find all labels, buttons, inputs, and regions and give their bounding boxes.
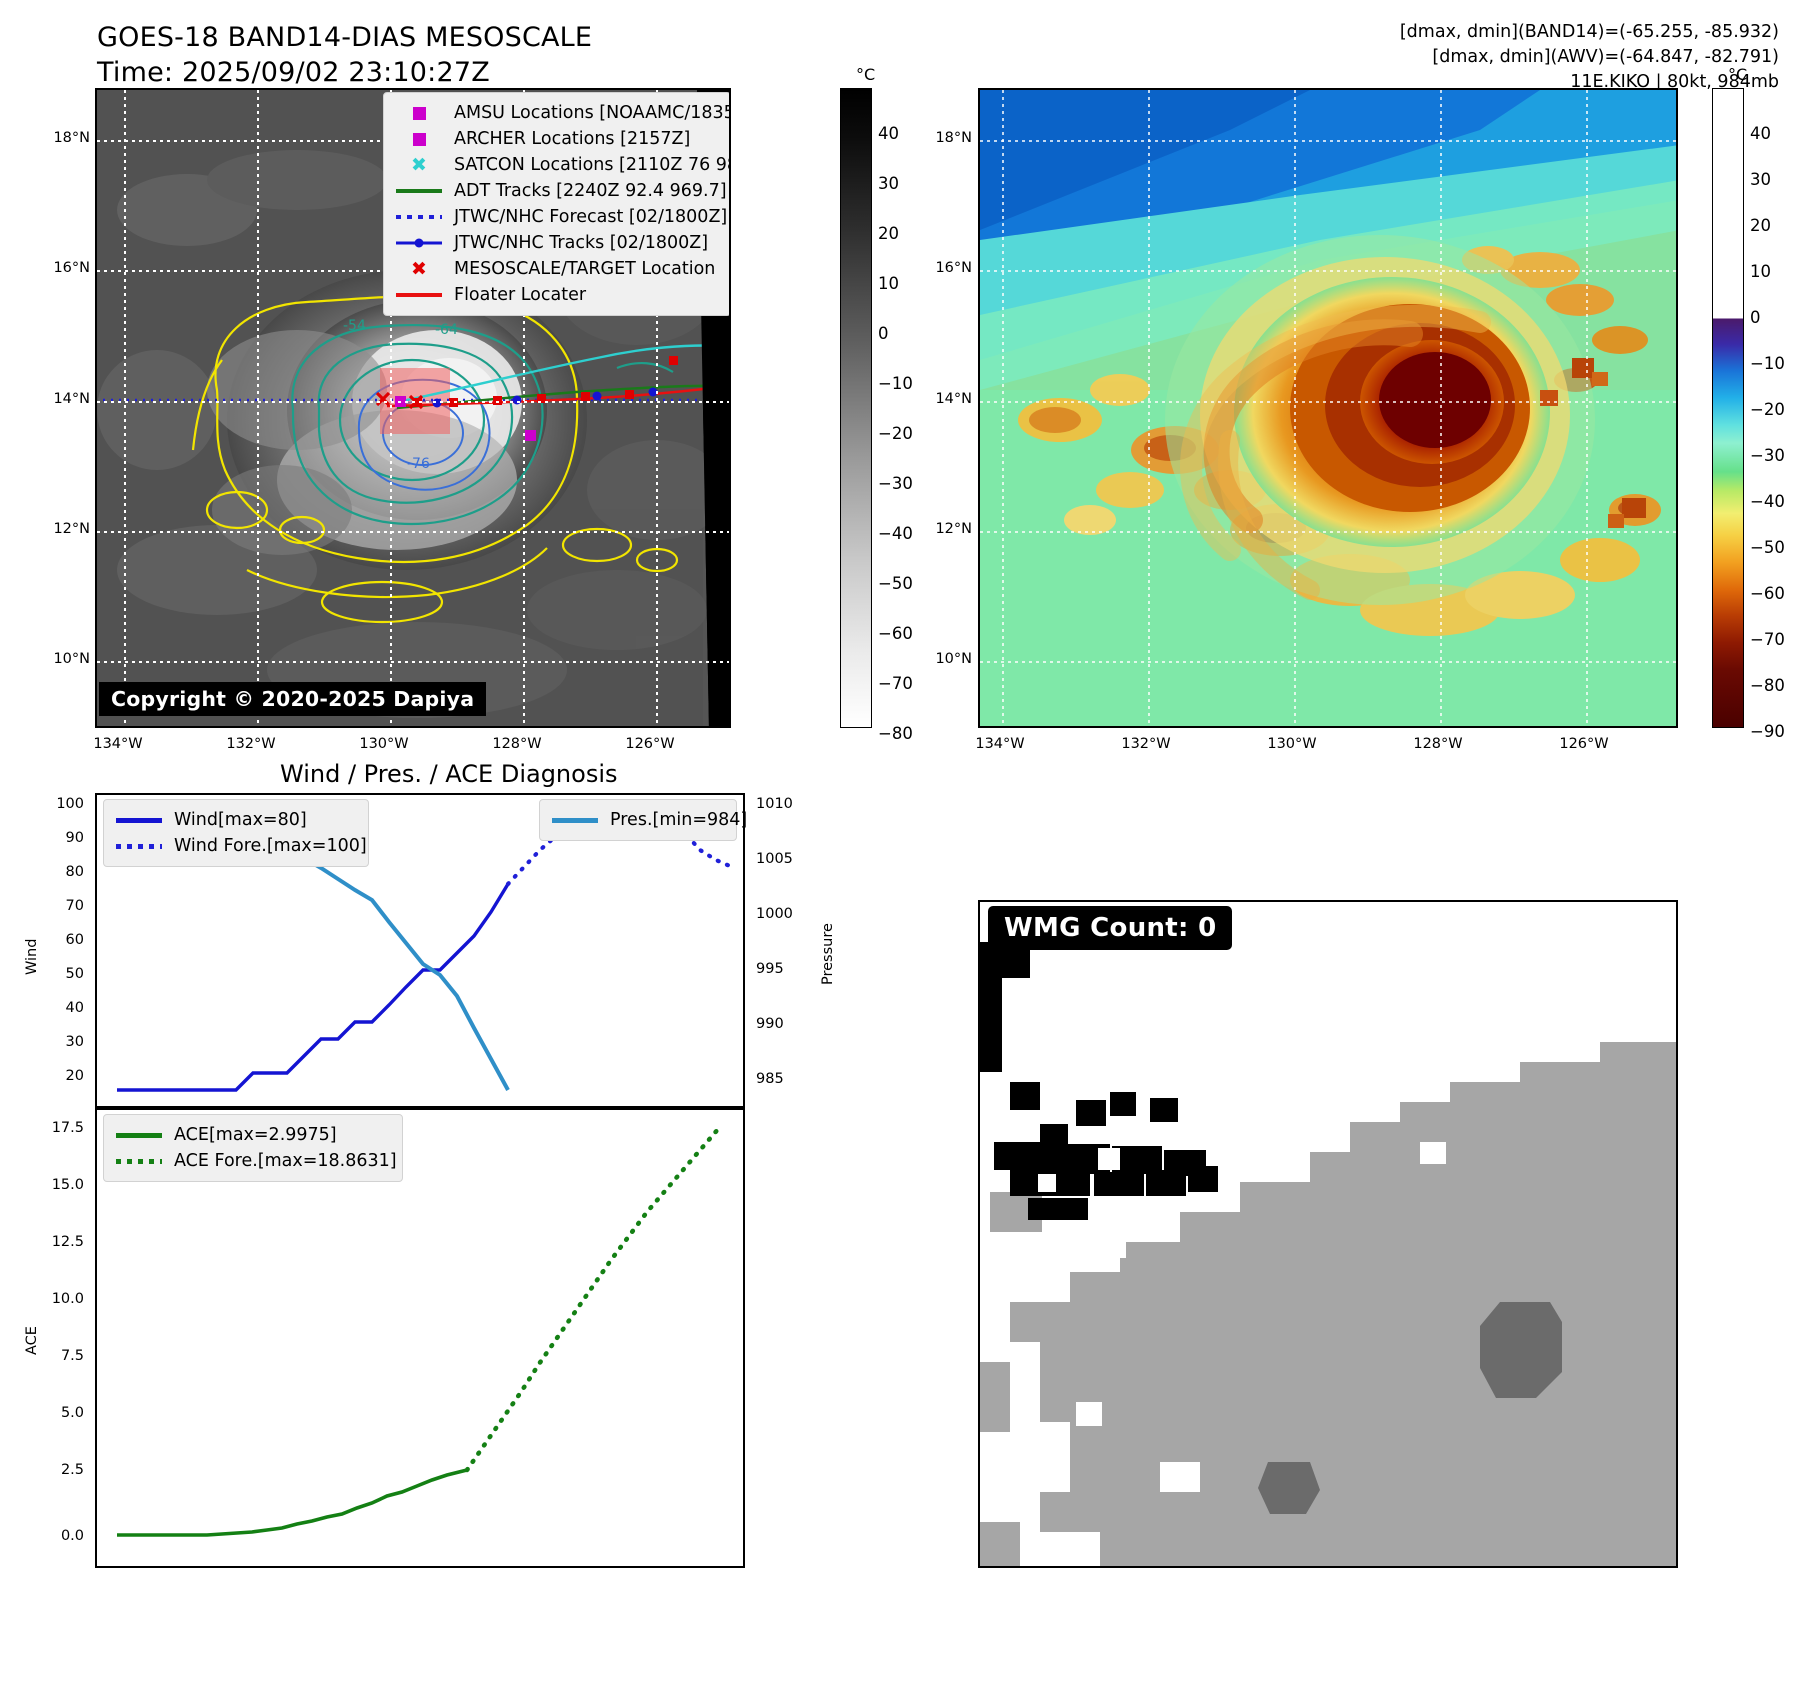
right-map-canvas — [980, 90, 1678, 728]
wind-tick: 50 — [66, 966, 84, 982]
left-colorbar-unit: °C — [856, 65, 875, 84]
cb-tick: −60 — [1750, 584, 1785, 603]
legend-label: ACE Fore.[max=18.8631] — [174, 1151, 397, 1171]
cb-tick: −30 — [878, 474, 913, 493]
legend-item[interactable]: ✖ SATCON Locations [2110Z 76 982] — [393, 152, 718, 178]
left-colorbar — [840, 88, 872, 728]
cb-tick: −70 — [1750, 630, 1785, 649]
ace-line-icon — [113, 1133, 165, 1138]
cb-tick: 0 — [1750, 308, 1761, 327]
gridline-lat — [980, 140, 1678, 142]
lat-label: 18°N — [52, 130, 90, 146]
pressure-legend: Pres.[min=984] — [539, 799, 737, 841]
wind-axis-ticks: 100 90 80 70 60 50 40 30 20 — [40, 793, 90, 1108]
ace-tick: 12.5 — [52, 1234, 84, 1250]
cb-tick: −30 — [1750, 446, 1785, 465]
floater-locater-line-icon — [393, 293, 445, 296]
legend-item[interactable]: Wind[max=80] — [113, 807, 356, 833]
gridline-lat — [980, 661, 1678, 663]
diagnosis-title: Wind / Pres. / ACE Diagnosis — [280, 760, 618, 788]
right-colorbar-ticks: 40 30 20 10 0 −10 −20 −30 −40 −50 −60 −7… — [1750, 88, 1801, 728]
gridline-lon — [1002, 90, 1004, 728]
gridline-lat — [97, 661, 731, 663]
wind-tick: 60 — [66, 932, 84, 948]
map-legend: AMSU Locations [NOAAMC/1835Z 62 990] ARC… — [383, 92, 731, 316]
cb-tick: −50 — [878, 574, 913, 593]
ace-tick: 10.0 — [52, 1291, 84, 1307]
lat-label: 12°N — [52, 521, 90, 537]
gridline-lon — [1148, 90, 1150, 728]
legend-label: Wind[max=80] — [174, 810, 307, 830]
lat-label: 16°N — [52, 260, 90, 276]
wind-pressure-chart[interactable]: Wind[max=80] Wind Fore.[max=100] Pres.[m… — [95, 793, 745, 1108]
ace-chart[interactable]: ACE[max=2.9975] ACE Fore.[max=18.8631] — [95, 1108, 745, 1568]
svg-text:-54: -54 — [343, 318, 366, 334]
cb-tick: 40 — [1750, 124, 1771, 143]
archer-square-icon — [393, 133, 445, 146]
cb-tick: 20 — [878, 224, 899, 243]
gridline-lon — [1440, 90, 1442, 728]
header-stats: [dmax, dmin](BAND14)=(-65.255, -85.932) … — [1139, 20, 1779, 95]
legend-item[interactable]: ARCHER Locations [2157Z] — [393, 126, 718, 152]
legend-label: Wind Fore.[max=100] — [174, 836, 367, 856]
time-line: Time: 2025/09/02 23:10:27Z — [97, 57, 592, 88]
lat-label: 10°N — [52, 651, 90, 667]
lat-label: 18°N — [930, 130, 972, 146]
wind-line-icon — [113, 818, 165, 823]
wind-tick: 80 — [66, 864, 84, 880]
legend-label: SATCON Locations [2110Z 76 982] — [454, 155, 731, 175]
gridline-lat — [980, 401, 1678, 403]
lon-label: 132°W — [215, 736, 287, 752]
legend-item[interactable]: AMSU Locations [NOAAMC/1835Z 62 990] — [393, 100, 718, 126]
right-colorbar — [1712, 88, 1744, 728]
lat-label: 14°N — [52, 391, 90, 407]
wind-legend: Wind[max=80] Wind Fore.[max=100] — [103, 799, 369, 867]
lon-label: 130°W — [1256, 736, 1328, 752]
legend-item[interactable]: ACE Fore.[max=18.8631] — [113, 1148, 390, 1174]
satcon-cross-icon: ✖ — [393, 156, 445, 175]
pres-tick: 995 — [756, 961, 784, 977]
ace-tick: 7.5 — [61, 1348, 84, 1364]
cb-tick: −80 — [878, 724, 913, 743]
lon-label: 134°W — [82, 736, 154, 752]
cb-tick: −20 — [878, 424, 913, 443]
cb-tick: −50 — [1750, 538, 1785, 557]
right-colorbar-unit: °C — [1728, 65, 1747, 84]
lon-label: 128°W — [481, 736, 553, 752]
copyright-badge: Copyright © 2020-2025 Dapiya — [99, 682, 486, 716]
legend-item[interactable]: ACE[max=2.9975] — [113, 1122, 390, 1148]
lon-label: 128°W — [1402, 736, 1474, 752]
jtwc-track-line-marker-icon — [393, 237, 445, 249]
pressure-line-icon — [549, 818, 601, 823]
cb-tick: −70 — [878, 674, 913, 693]
cb-tick: −80 — [1750, 676, 1785, 695]
wmg-panel[interactable]: WMG Count: 0 — [978, 900, 1678, 1568]
left-colorbar-ticks: 40 30 20 10 0 −10 −20 −30 −40 −50 −60 −7… — [878, 88, 938, 728]
ace-tick: 15.0 — [52, 1177, 84, 1193]
lon-label: 134°W — [964, 736, 1036, 752]
legend-item[interactable]: Wind Fore.[max=100] — [113, 833, 356, 859]
lon-label: 126°W — [1548, 736, 1620, 752]
wind-forecast-dotted-icon — [113, 844, 165, 849]
jtwc-forecast-dotted-icon — [393, 215, 445, 219]
pres-tick: 985 — [756, 1071, 784, 1087]
cb-tick: −40 — [878, 524, 913, 543]
lon-label: 132°W — [1110, 736, 1182, 752]
cb-tick: 0 — [878, 324, 889, 343]
wind-tick: 70 — [66, 898, 84, 914]
right-ir-enhanced-map[interactable] — [978, 88, 1678, 728]
legend-item[interactable]: JTWC/NHC Forecast [02/1800Z] — [393, 204, 718, 230]
gridline-lon — [1586, 90, 1588, 728]
pres-tick: 990 — [756, 1016, 784, 1032]
gridline-lon — [257, 90, 259, 728]
wind-tick: 20 — [66, 1068, 84, 1084]
cb-tick: 30 — [1750, 170, 1771, 189]
wind-axis-title: Wind — [24, 939, 40, 975]
legend-label: AMSU Locations [NOAAMC/1835Z 62 990] — [454, 103, 731, 123]
ace-forecast-dotted-icon — [113, 1159, 165, 1164]
cb-tick: 10 — [878, 274, 899, 293]
amsu-square-icon — [393, 107, 445, 120]
legend-label: Floater Locater — [454, 285, 586, 305]
legend-label: ARCHER Locations [2157Z] — [454, 129, 690, 149]
gridline-lon — [124, 90, 126, 728]
cb-tick: −10 — [1750, 354, 1785, 373]
wmg-count-badge: WMG Count: 0 — [988, 906, 1232, 950]
mesoscale-target-x-icon: ✖ — [393, 260, 445, 279]
lon-label: 130°W — [348, 736, 420, 752]
lat-label: 12°N — [930, 521, 972, 537]
page-title: GOES-18 BAND14-DIAS MESOSCALE Time: 2025… — [97, 22, 592, 88]
gridline-lat — [97, 531, 731, 533]
lat-label: 10°N — [930, 651, 972, 667]
pres-tick: 1010 — [756, 796, 793, 812]
lon-label: 126°W — [614, 736, 686, 752]
ace-tick: 0.0 — [61, 1528, 84, 1544]
ace-legend: ACE[max=2.9975] ACE Fore.[max=18.8631] — [103, 1114, 403, 1182]
legend-label: JTWC/NHC Tracks [02/1800Z] — [454, 233, 708, 253]
pressure-axis-title: Pressure — [820, 923, 836, 985]
cb-tick: −20 — [1750, 400, 1785, 419]
wmg-mask-canvas — [980, 902, 1676, 1566]
left-satellite-map[interactable]: -54 -64 -76 — [95, 88, 731, 728]
cb-tick: 20 — [1750, 216, 1771, 235]
cb-tick: 10 — [1750, 262, 1771, 281]
svg-text:-64: -64 — [435, 322, 458, 338]
wind-tick: 90 — [66, 830, 84, 846]
cb-tick: −10 — [878, 374, 913, 393]
lat-label: 16°N — [930, 260, 972, 276]
gridline-lat — [97, 401, 731, 403]
wind-tick: 40 — [66, 1000, 84, 1016]
legend-item[interactable]: ADT Tracks [2240Z 92.4 969.7] — [393, 178, 718, 204]
pres-tick: 1000 — [756, 906, 793, 922]
legend-item[interactable]: ✖ MESOSCALE/TARGET Location — [393, 256, 718, 282]
ace-tick: 17.5 — [52, 1120, 84, 1136]
title-line: GOES-18 BAND14-DIAS MESOSCALE — [97, 22, 592, 53]
dmax-band14-text: [dmax, dmin](BAND14)=(-65.255, -85.932) — [1139, 20, 1779, 45]
adt-line-icon — [393, 189, 445, 192]
legend-label: MESOSCALE/TARGET Location — [454, 259, 715, 279]
dmax-awv-text: [dmax, dmin](AWV)=(-64.847, -82.791) — [1139, 45, 1779, 70]
legend-item[interactable]: Floater Locater — [393, 282, 718, 308]
pres-tick: 1005 — [756, 851, 793, 867]
lat-label: 14°N — [930, 391, 972, 407]
cb-tick: −40 — [1750, 492, 1785, 511]
legend-item[interactable]: Pres.[min=984] — [549, 807, 724, 833]
cb-tick: −90 — [1750, 722, 1785, 741]
ace-axis-title: ACE — [24, 1326, 40, 1355]
cb-tick: −60 — [878, 624, 913, 643]
wind-tick: 100 — [56, 796, 84, 812]
gridline-lat — [980, 531, 1678, 533]
ace-tick: 2.5 — [61, 1462, 84, 1478]
wind-tick: 30 — [66, 1034, 84, 1050]
legend-label: ACE[max=2.9975] — [174, 1125, 337, 1145]
cb-tick: 30 — [878, 174, 899, 193]
ace-tick: 5.0 — [61, 1405, 84, 1421]
cb-tick: 40 — [878, 124, 899, 143]
gridline-lon — [1294, 90, 1296, 728]
legend-label: JTWC/NHC Forecast [02/1800Z] — [454, 207, 727, 227]
legend-item[interactable]: JTWC/NHC Tracks [02/1800Z] — [393, 230, 718, 256]
pressure-axis-ticks: 1010 1005 1000 995 990 985 — [752, 793, 812, 1108]
legend-label: ADT Tracks [2240Z 92.4 969.7] — [454, 181, 727, 201]
gridline-lat — [980, 270, 1678, 272]
svg-text:-76: -76 — [407, 456, 430, 472]
legend-label: Pres.[min=984] — [610, 810, 747, 830]
